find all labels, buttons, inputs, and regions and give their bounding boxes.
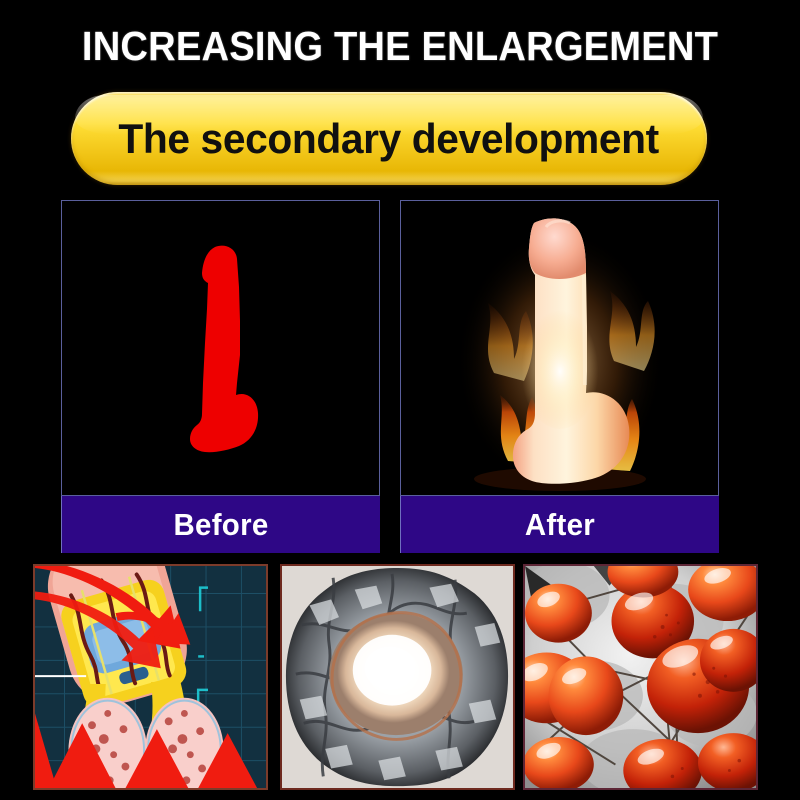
- bottom-panel-cell: [280, 564, 515, 790]
- ad-root: INCREASING THE ENLARGEMENT The secondary…: [0, 0, 800, 800]
- after-label-bar: After: [400, 496, 719, 553]
- molecule-spheres-image: [525, 566, 756, 788]
- subtitle-banner-label: The secondary development: [119, 116, 659, 162]
- before-image-panel: [61, 200, 380, 496]
- anatomy-diagram-image: [35, 566, 266, 788]
- before-label-bar: Before: [61, 496, 380, 553]
- page-title: INCREASING THE ENLARGEMENT: [28, 22, 772, 70]
- bottom-panel-anatomy: [33, 564, 268, 790]
- after-subject-silhouette: [488, 215, 638, 487]
- cell-microscopy-image: [282, 566, 513, 788]
- bottom-panel-molecules: [523, 564, 758, 790]
- before-label-text: Before: [174, 507, 269, 543]
- after-image-panel: [400, 200, 719, 496]
- before-subject-silhouette: [187, 243, 261, 461]
- after-label-text: After: [525, 507, 595, 543]
- subtitle-banner: The secondary development: [71, 92, 707, 185]
